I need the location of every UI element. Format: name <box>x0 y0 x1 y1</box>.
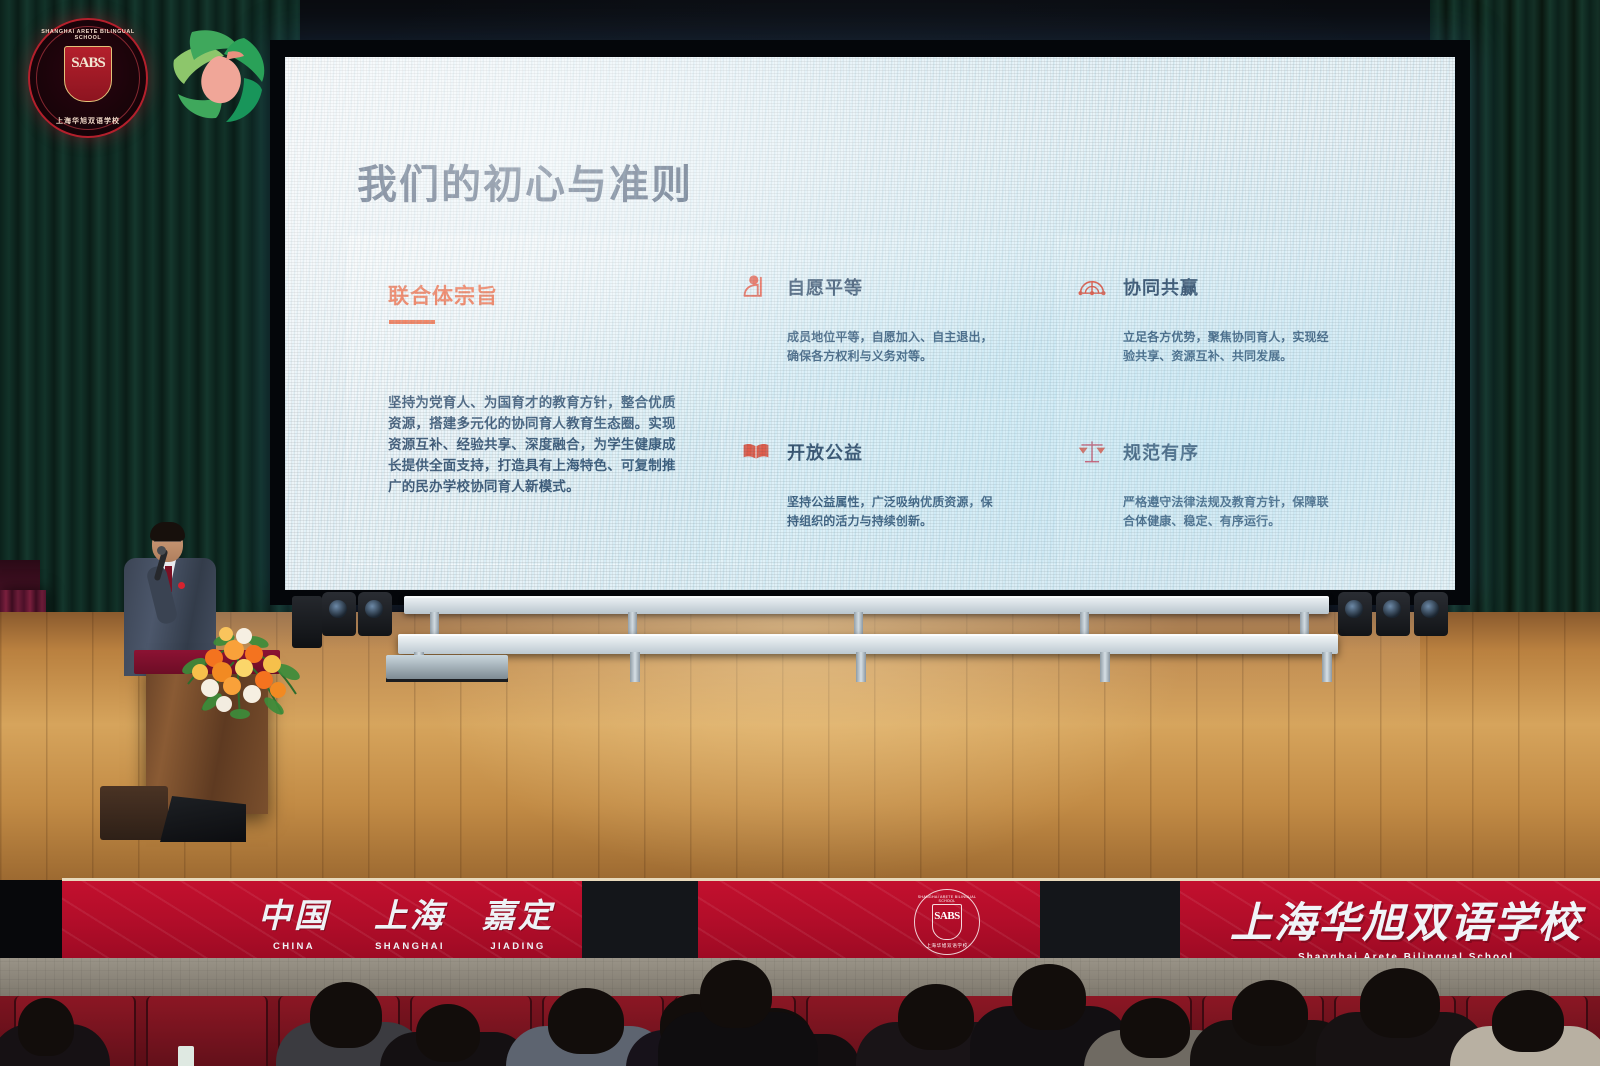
principle-body: 立足各方优势，聚焦协同育人，实现经验共享、资源互补、共同发展。 <box>1123 328 1333 366</box>
floral-arrangement <box>178 606 303 726</box>
banner-crest-arc-bottom: 上海华旭双语学校 <box>915 943 979 949</box>
banner-gap-panel <box>582 881 698 961</box>
banner-location-en: JIADING <box>458 941 578 952</box>
moving-head-light-icon <box>358 592 392 636</box>
stage-photo: 我们的初心与准则 联合体宗旨 坚持为党育人、为国育才的教育方针，整合优质资源，搭… <box>0 0 1600 1066</box>
riser-leg <box>630 652 640 682</box>
principle-title: 自愿平等 <box>787 274 863 300</box>
moving-head-light-icon <box>322 592 356 636</box>
crest-arc-bottom-text: 上海华旭双语学校 <box>30 116 146 126</box>
crest-shield: SABS <box>64 46 112 102</box>
crest-arc-top-text: SHANGHAI ARETE BILINGUAL SCHOOL <box>30 29 146 41</box>
audience-member <box>310 982 382 1048</box>
green-leaf-peach-logo <box>166 22 272 130</box>
principle-body: 坚持公益属性，广泛吸纳优质资源，保持组织的活力与持续创新。 <box>787 493 997 531</box>
purpose-heading: 联合体宗旨 <box>388 280 498 310</box>
audience-member <box>1120 998 1190 1058</box>
banner-school-crest: SHANGHAI ARETE BILINGUAL SCHOOL SABS 上海华… <box>914 889 980 955</box>
principle-title: 开放公益 <box>787 439 863 465</box>
banner-location-jiading: 嘉定 JIADING <box>458 889 578 952</box>
principle-title: 规范有序 <box>1123 439 1199 465</box>
stage-front-banner: 中国 CHINA 上海 SHANGHAI 嘉定 JIADING SHANGHAI… <box>62 878 1600 961</box>
moving-head-light-icon <box>1414 592 1448 636</box>
audience-member <box>416 1004 480 1062</box>
network-arch-icon <box>1075 270 1109 304</box>
auditorium-seat <box>146 996 268 1066</box>
school-crest-logo: SHANGHAI ARETE BILINGUAL SCHOOL SABS 上海华… <box>28 18 148 138</box>
audience-member <box>700 960 772 1028</box>
audience-member <box>1232 980 1308 1046</box>
choir-riser-front <box>398 634 1338 654</box>
banner-location-shanghai: 上海 SHANGHAI <box>350 889 470 952</box>
purpose-card: 联合体宗旨 坚持为党育人、为国育才的教育方针，整合优质资源，搭建多元化的协同育人… <box>347 235 722 565</box>
banner-location-en: CHINA <box>234 941 354 952</box>
audience-member <box>1012 964 1086 1030</box>
person-raising-hand-icon <box>739 270 773 304</box>
phone-screen <box>178 1046 194 1066</box>
audience-member <box>548 988 624 1054</box>
presentation-slide: 我们的初心与准则 联合体宗旨 坚持为党育人、为国育才的教育方针，整合优质资源，搭… <box>285 57 1455 590</box>
audience-area <box>0 960 1600 1066</box>
riser-step <box>386 655 508 679</box>
purpose-accent-rule <box>389 320 435 324</box>
equipment-trunk <box>100 786 168 840</box>
principle-body: 严格遵守法律法规及教育方针，保障联合体健康、稳定、有序运行。 <box>1123 493 1333 531</box>
principle-card-voluntary-equality: 自愿平等 成员地位平等，自愿加入、自主退出，确保各方权利与义务对等。 <box>722 235 1058 400</box>
principle-body: 成员地位平等，自愿加入、自主退出，确保各方权利与义务对等。 <box>787 328 997 366</box>
banner-school-name-cn: 上海华旭双语学校 <box>1230 889 1582 950</box>
slide-title: 我们的初心与准则 <box>357 152 693 210</box>
lapel-badge <box>178 582 185 589</box>
banner-location-cn: 中国 <box>234 889 354 937</box>
balance-scales-icon <box>1075 435 1109 469</box>
principle-title: 协同共赢 <box>1123 274 1199 300</box>
banner-location-cn: 上海 <box>350 889 470 937</box>
principles-grid: 自愿平等 成员地位平等，自愿加入、自主退出，确保各方权利与义务对等。 <box>722 235 1394 565</box>
open-book-icon <box>739 435 773 469</box>
principle-card-open-public-welfare: 开放公益 坚持公益属性，广泛吸纳优质资源，保持组织的活力与持续创新。 <box>722 400 1058 565</box>
stage-monitor-wedge <box>160 796 246 842</box>
riser-leg <box>1100 652 1110 682</box>
principle-card-regulated-orderly: 规范有序 严格遵守法律法规及教育方针，保障联合体健康、稳定、有序运行。 <box>1058 400 1394 565</box>
banner-school-name: 上海华旭双语学校 Shanghai Arete Bilingual School <box>1230 889 1582 961</box>
banner-crest-arc-top: SHANGHAI ARETE BILINGUAL SCHOOL <box>915 895 979 903</box>
banner-gap-panel <box>1040 881 1180 961</box>
moving-head-light-icon <box>1338 592 1372 636</box>
choir-riser-back <box>404 596 1329 614</box>
speaker-hair <box>150 522 185 541</box>
audience-member <box>1360 968 1440 1038</box>
moving-head-light-icon <box>1376 592 1410 636</box>
purpose-body-text: 坚持为党育人、为国育才的教育方针，整合优质资源，搭建多元化的协同育人教育生态圈。… <box>388 392 688 497</box>
audience-member <box>18 998 74 1056</box>
banner-crest-monogram: SABS <box>915 910 979 922</box>
banner-location-china: 中国 CHINA <box>234 889 354 952</box>
riser-leg <box>1322 652 1332 682</box>
principle-card-synergy-winwin: 协同共赢 立足各方优势，聚焦协同育人，实现经验共享、资源互补、共同发展。 <box>1058 235 1394 400</box>
audience-member <box>1492 990 1564 1052</box>
banner-location-cn: 嘉定 <box>458 889 578 937</box>
slide-card-grid: 联合体宗旨 坚持为党育人、为国育才的教育方针，整合优质资源，搭建多元化的协同育人… <box>347 235 1397 565</box>
riser-leg <box>856 652 866 682</box>
audience-member <box>898 984 974 1050</box>
microphone-head <box>157 546 166 555</box>
banner-location-en: SHANGHAI <box>350 941 470 952</box>
crest-monogram: SABS <box>65 55 111 72</box>
